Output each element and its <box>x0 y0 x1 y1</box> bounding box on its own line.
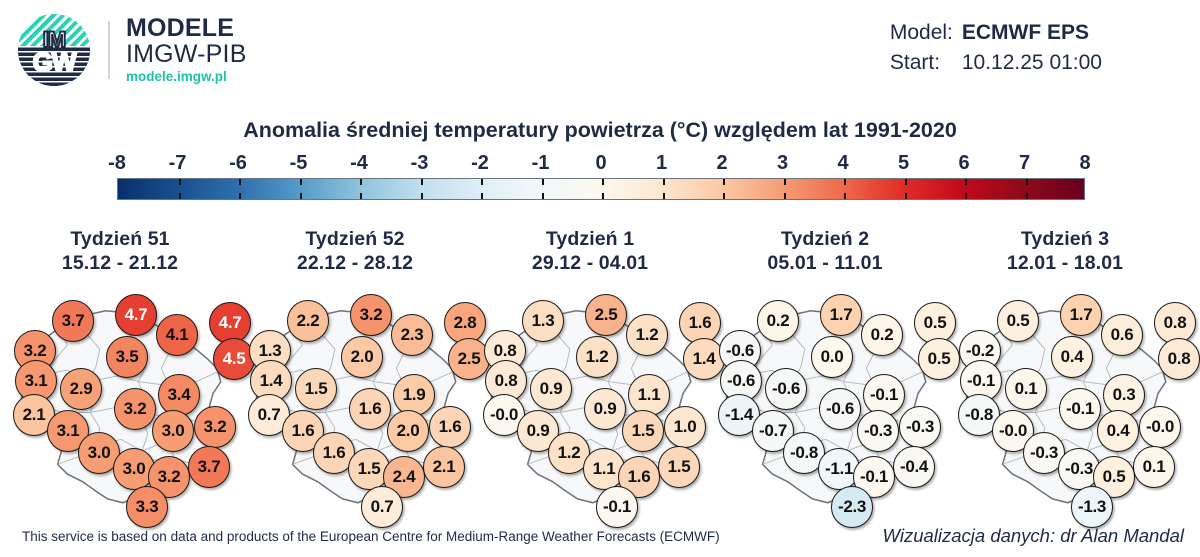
colorbar-tickmark <box>844 179 846 185</box>
forecast-panel-5: Tydzień 312.01 - 18.01-0.20.51.70.60.80.… <box>945 228 1185 518</box>
anomaly-bubble: 1.5 <box>658 446 700 488</box>
anomaly-bubble: -0.4 <box>893 446 935 488</box>
anomaly-bubble: 1.2 <box>626 314 668 356</box>
brand-line-1: MODELE <box>126 15 247 41</box>
colorbar-tick-neg7: -7 <box>169 152 187 175</box>
anomaly-bubble: 1.9 <box>393 374 435 416</box>
anomaly-bubble: 1.6 <box>429 406 471 448</box>
panel-date-range: 12.01 - 18.01 <box>945 252 1185 276</box>
colorbar-tickmark <box>300 193 302 199</box>
anomaly-bubble: -0.3 <box>857 410 899 452</box>
colorbar-tickmark <box>481 193 483 199</box>
panel-date-range: 22.12 - 28.12 <box>235 252 475 276</box>
colorbar-tickmark <box>844 193 846 199</box>
colorbar-gradient-fill <box>118 179 1084 199</box>
anomaly-bubble: 1.6 <box>349 388 391 430</box>
panel-week-label: Tydzień 51 <box>70 228 169 250</box>
anomaly-bubble: 0.5 <box>997 300 1039 342</box>
model-value: ECMWF EPS <box>962 18 1089 48</box>
colorbar-tickmark <box>300 179 302 185</box>
anomaly-bubble: 3.7 <box>188 446 230 488</box>
colorbar-tickmark <box>421 193 423 199</box>
poland-map: 0.81.32.51.21.61.21.40.80.9-0.00.91.10.9… <box>470 284 710 518</box>
visualisation-author: Wizualizacja danych: dr Alan Mandal <box>883 525 1184 547</box>
panel-week-label: Tydzień 3 <box>1021 228 1109 250</box>
colorbar-tick-2: 2 <box>716 152 727 175</box>
anomaly-bubble: -0.1 <box>863 374 905 416</box>
colorbar-tick-3: 3 <box>777 152 788 175</box>
colorbar-tickmark <box>179 179 181 185</box>
colorbar-tickmark <box>481 179 483 185</box>
colorbar-tickmark <box>663 179 665 185</box>
colorbar-tickmark <box>965 179 967 185</box>
anomaly-bubble: 0.6 <box>1101 314 1143 356</box>
anomaly-bubble: 2.1 <box>423 446 465 488</box>
anomaly-bubble: 4.7 <box>115 294 157 336</box>
anomaly-bubble: 0.9 <box>530 368 572 410</box>
anomaly-bubble: 3.5 <box>106 336 148 378</box>
colorbar-tickmark <box>723 179 725 185</box>
panel-date-range: 05.01 - 11.01 <box>705 252 945 276</box>
anomaly-bubble: 0.4 <box>1097 410 1139 452</box>
anomaly-bubble: 2.9 <box>60 368 102 410</box>
model-label: Model: <box>890 18 962 48</box>
anomaly-bubble: 1.2 <box>576 336 618 378</box>
poland-map: -0.60.21.70.20.50.00.5-0.6-0.6-1.4-0.6-0… <box>705 284 945 518</box>
anomaly-bubble: 3.4 <box>158 374 200 416</box>
anomaly-bubble: -0.1 <box>1059 388 1101 430</box>
colorbar-tickmark <box>360 193 362 199</box>
colorbar-tickmark <box>602 179 604 185</box>
anomaly-bubble: 0.1 <box>1133 446 1175 488</box>
colorbar-tick-neg3: -3 <box>411 152 429 175</box>
anomaly-bubble: 0.9 <box>584 388 626 430</box>
panel-date-range: 15.12 - 21.12 <box>0 252 240 276</box>
page-footer: This service is based on data and produc… <box>0 521 1200 557</box>
colorbar-tickmark <box>905 179 907 185</box>
anomaly-bubble: 3.7 <box>52 300 94 342</box>
colorbar-tick-0: 0 <box>595 152 606 175</box>
colorbar-tickmark <box>360 179 362 185</box>
logo-divider <box>108 21 110 79</box>
brand-line-2: IMGW-PIB <box>126 41 247 67</box>
panel-title: Tydzień 5222.12 - 28.12 <box>235 228 475 276</box>
colorbar-tick-8: 8 <box>1079 152 1090 175</box>
colorbar-tickmark <box>179 193 181 199</box>
anomaly-bubble: 0.0 <box>811 336 853 378</box>
anomaly-bubble: 2.2 <box>287 300 329 342</box>
colorbar-tickmark <box>784 179 786 185</box>
model-metadata: Model: ECMWF EPS Start: 10.12.25 01:00 <box>890 18 1102 78</box>
anomaly-bubble: 3.2 <box>114 388 156 430</box>
anomaly-bubble: 3.0 <box>152 410 194 452</box>
colorbar-tickmark <box>723 193 725 199</box>
colorbar-tick-neg5: -5 <box>290 152 308 175</box>
panel-title: Tydzień 205.01 - 11.01 <box>705 228 945 276</box>
start-label: Start: <box>890 48 962 78</box>
brand-url: modele.imgw.pl <box>126 70 247 84</box>
colorbar-tickmark <box>602 193 604 199</box>
colorbar: -8-7-6-5-4-3-2-1012345678 <box>117 152 1085 200</box>
colorbar-tickmark <box>1026 193 1028 199</box>
forecast-panel-3: Tydzień 129.12 - 04.010.81.32.51.21.61.2… <box>470 228 710 518</box>
panel-title: Tydzień 129.12 - 04.01 <box>470 228 710 276</box>
colorbar-tick-1: 1 <box>656 152 667 175</box>
colorbar-tick-labels: -8-7-6-5-4-3-2-1012345678 <box>117 152 1085 178</box>
colorbar-tick-neg4: -4 <box>350 152 368 175</box>
colorbar-tickmark <box>239 179 241 185</box>
colorbar-tickmark <box>784 193 786 199</box>
anomaly-bubble: 1.5 <box>622 410 664 452</box>
colorbar-tick-neg6: -6 <box>229 152 247 175</box>
colorbar-tick-neg8: -8 <box>108 152 126 175</box>
panel-title: Tydzień 312.01 - 18.01 <box>945 228 1185 276</box>
anomaly-bubble: 3.2 <box>350 294 392 336</box>
colorbar-tick-neg1: -1 <box>532 152 550 175</box>
model-row: Model: ECMWF EPS <box>890 18 1102 48</box>
poland-map: 3.23.74.74.14.73.54.53.12.92.13.23.43.13… <box>0 284 240 518</box>
panel-week-label: Tydzień 2 <box>781 228 869 250</box>
anomaly-bubble: 1.7 <box>1060 294 1102 336</box>
forecast-panel-4: Tydzień 205.01 - 11.01-0.60.21.70.20.50.… <box>705 228 945 518</box>
anomaly-bubble: 0.4 <box>1051 336 1093 378</box>
colorbar-tickmark <box>542 193 544 199</box>
brand-logo-block: IM GW MODELE IMGW-PIB modele.imgw.pl <box>18 14 247 86</box>
anomaly-bubble: 2.3 <box>391 314 433 356</box>
anomaly-bubble: 0.3 <box>1103 374 1145 416</box>
anomaly-bubble: 0.2 <box>861 314 903 356</box>
page-header: IM GW MODELE IMGW-PIB modele.imgw.pl Mod… <box>0 0 1200 100</box>
anomaly-bubble: 1.0 <box>664 406 706 448</box>
colorbar-tick-6: 6 <box>958 152 969 175</box>
anomaly-bubble: 2.5 <box>585 294 627 336</box>
anomaly-bubble: 1.7 <box>820 294 862 336</box>
colorbar-tickmark <box>239 193 241 199</box>
anomaly-bubble: -0.6 <box>819 388 861 430</box>
poland-map: 1.32.23.22.32.82.02.51.41.50.71.61.91.62… <box>235 284 475 518</box>
colorbar-tick-5: 5 <box>898 152 909 175</box>
colorbar-tickmark <box>965 193 967 199</box>
start-row: Start: 10.12.25 01:00 <box>890 48 1102 78</box>
panel-week-label: Tydzień 52 <box>305 228 404 250</box>
colorbar-tickmark <box>421 179 423 185</box>
forecast-panel-1: Tydzień 5115.12 - 21.123.23.74.74.14.73.… <box>0 228 240 518</box>
imgw-logo-icon: IM GW <box>18 14 90 86</box>
colorbar-tickmark <box>1026 179 1028 185</box>
colorbar-tickmark <box>663 193 665 199</box>
colorbar-tickmark <box>905 193 907 199</box>
anomaly-bubble: 0.1 <box>1005 368 1047 410</box>
anomaly-bubble: 0.2 <box>757 300 799 342</box>
poland-map: -0.20.51.70.60.80.40.8-0.10.1-0.8-0.10.3… <box>945 284 1185 518</box>
colorbar-tick-7: 7 <box>1019 152 1030 175</box>
ecmwf-credit: This service is based on data and produc… <box>22 529 720 544</box>
start-value: 10.12.25 01:00 <box>962 48 1102 78</box>
anomaly-bubble: -0.3 <box>899 406 941 448</box>
colorbar-tickmark <box>542 179 544 185</box>
anomaly-bubble: -0.6 <box>765 368 807 410</box>
anomaly-bubble: -0.0 <box>1139 406 1181 448</box>
brand-text: MODELE IMGW-PIB modele.imgw.pl <box>126 15 247 84</box>
anomaly-bubble: 4.1 <box>156 314 198 356</box>
anomaly-bubble: 0.8 <box>1158 338 1200 380</box>
anomaly-bubble: 1.3 <box>522 300 564 342</box>
forecast-panel-2: Tydzień 5222.12 - 28.121.32.23.22.32.82.… <box>235 228 475 518</box>
colorbar-title: Anomalia średniej temperatury powietrza … <box>0 118 1200 143</box>
panel-week-label: Tydzień 1 <box>546 228 634 250</box>
anomaly-bubble: 2.0 <box>387 410 429 452</box>
anomaly-bubble: 2.0 <box>341 336 383 378</box>
colorbar-tick-4: 4 <box>837 152 848 175</box>
anomaly-bubble: 1.1 <box>628 374 670 416</box>
panel-date-range: 29.12 - 04.01 <box>470 252 710 276</box>
anomaly-bubble: 1.5 <box>295 368 337 410</box>
anomaly-bubble: 3.2 <box>194 406 236 448</box>
panel-title: Tydzień 5115.12 - 21.12 <box>0 228 240 276</box>
colorbar-tick-neg2: -2 <box>471 152 489 175</box>
forecast-panels: Tydzień 5115.12 - 21.123.23.74.74.14.73.… <box>0 228 1200 518</box>
colorbar-gradient <box>117 178 1085 200</box>
